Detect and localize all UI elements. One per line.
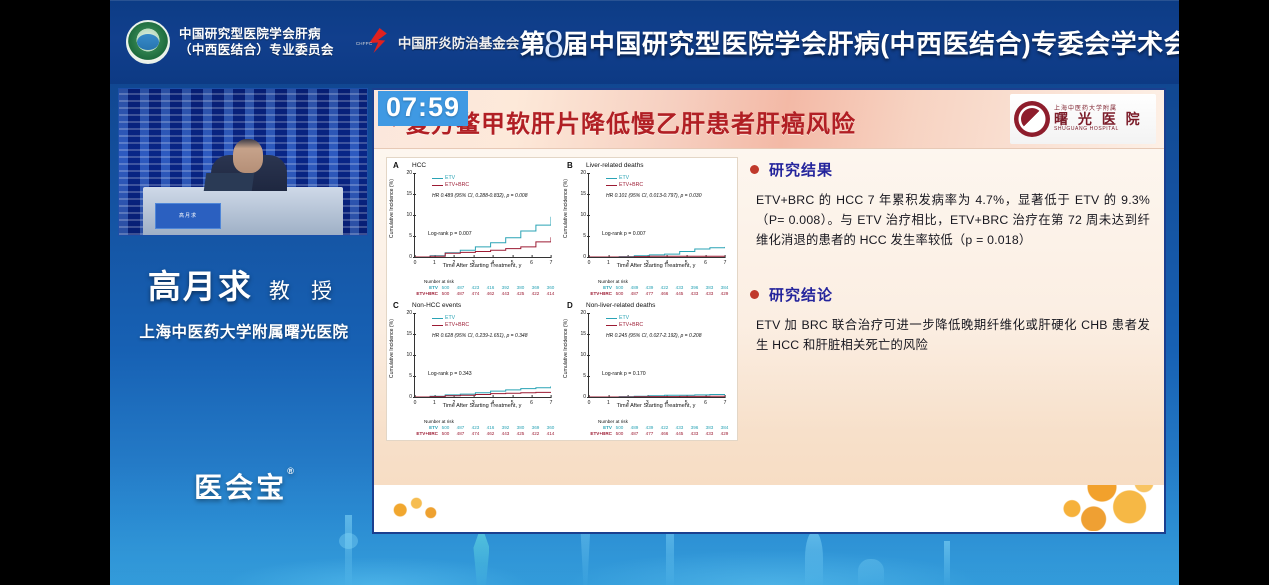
y-tick-label: 10 (401, 352, 412, 358)
risk-value: 422 (528, 431, 543, 437)
y-tick-label: 15 (401, 191, 412, 197)
y-tick-label: 10 (401, 212, 412, 218)
legend-line-icon (606, 318, 617, 319)
legend-line-icon (606, 178, 617, 179)
legend-item: ETV (606, 315, 643, 322)
conclusion-heading: 研究结论 (769, 284, 833, 305)
y-tick-label: 20 (575, 170, 586, 176)
risk-value: 466 (657, 291, 672, 297)
hazard-ratio-text: HR 0.628 (95% CI, 0.239-1.651), p = 0.34… (432, 333, 527, 339)
y-tick-label: 20 (575, 310, 586, 316)
y-axis-label: Cumulative Incidence (%) (563, 319, 569, 378)
x-tick-label: 7 (724, 400, 727, 406)
legend-item: ETV+BRC (606, 182, 643, 189)
legend-line-icon (432, 178, 443, 179)
risk-value: 414 (543, 291, 558, 297)
risk-row: ETV+BRC500487474462443425422414 (410, 291, 560, 297)
x-axis-label: Time After Starting Treatment, y (588, 403, 724, 409)
chart-panel-d: DNon-liver-related deathsCumulative Inci… (562, 299, 734, 439)
risk-value: 443 (498, 431, 513, 437)
speaker-head (233, 139, 263, 173)
hospital-seal-icon (1014, 101, 1050, 137)
risk-value: 433 (702, 291, 717, 297)
speaker-panel: 高月求 高月求教 授 上海中医药大学附属曙光医院 医会宝® (118, 88, 370, 528)
conclusion-heading-row: 研究结论 (750, 284, 1150, 305)
foundation-logo-block: 中国肝炎防治基金会 (356, 27, 520, 57)
curve-etv (415, 386, 551, 397)
legend-label: ETV+BRC (619, 182, 643, 189)
risk-value: 487 (627, 291, 642, 297)
logrank-text: Log-rank p = 0.343 (428, 371, 472, 377)
logrank-text: Log-rank p = 0.170 (602, 371, 646, 377)
panel-letter: D (567, 301, 573, 310)
x-tick-label: 7 (550, 260, 553, 266)
risk-value: 500 (438, 291, 453, 297)
letterbox-right (1179, 0, 1269, 585)
slide-title: 复方鳖甲软肝片降低慢乙肝患者肝癌风险 (406, 104, 856, 139)
y-tick-label: 5 (575, 233, 586, 239)
speaker-title: 教 授 (269, 279, 340, 303)
y-tick-label: 5 (401, 373, 412, 379)
risk-row: ETV+BRC500487474462443425422414 (410, 431, 560, 437)
slide-body: AHCCCumulative Incidence (%)051015200123… (374, 149, 1164, 531)
legend-label: ETV (619, 315, 629, 322)
risk-value: 466 (657, 431, 672, 437)
risk-value: 500 (438, 431, 453, 437)
logrank-text: Log-rank p = 0.007 (602, 231, 646, 237)
risk-row-label: ETV+BRC (410, 431, 438, 437)
panel-letter: A (393, 161, 399, 170)
risk-value: 462 (483, 431, 498, 437)
flower-decoration-icon (1036, 485, 1156, 531)
foundation-name: 中国肝炎防治基金会 (398, 32, 520, 52)
risk-value: 477 (642, 431, 657, 437)
legend-line-icon (606, 185, 617, 186)
legend-label: ETV+BRC (445, 182, 469, 189)
society-emblem-icon (126, 20, 170, 64)
hospital-logo: 上海中医药大学附属 曙 光 医 院 SHUGUANG HOSPITAL (1010, 94, 1156, 144)
legend-item: ETV+BRC (432, 322, 469, 329)
slide-text-panel: 研究结果 ETV+BRC 的 HCC 7 年累积发病率为 4.7%，显著低于 E… (750, 155, 1150, 355)
conclusion-body: ETV 加 BRC 联合治疗可进一步降低晚期纤维化或肝硬化 CHB 患者发生 H… (756, 315, 1150, 355)
number-at-risk-table: Number at riskETV50048742341639238036936… (410, 279, 560, 297)
conference-header: 中国研究型医院学会肝病 （中西医结合）专业委员会 中国肝炎防治基金会 第8届中国… (110, 0, 1179, 84)
risk-value: 500 (612, 431, 627, 437)
x-tick-label: 7 (550, 400, 553, 406)
y-tick-label: 0 (575, 254, 586, 260)
panel-title: Non-liver-related deaths (586, 302, 655, 309)
x-axis-label: Time After Starting Treatment, y (414, 403, 550, 409)
letterbox-left (0, 0, 110, 585)
y-tick-label: 15 (575, 191, 586, 197)
chart-panel-a: AHCCCumulative Incidence (%)051015200123… (388, 159, 560, 299)
y-tick-label: 15 (575, 331, 586, 337)
speaker-name: 高月求教 授 (118, 260, 370, 308)
risk-value: 429 (717, 431, 732, 437)
kaplan-meier-chart-grid: AHCCCumulative Incidence (%)051015200123… (386, 157, 738, 441)
risk-value: 414 (543, 431, 558, 437)
y-tick-label: 0 (401, 394, 412, 400)
curve-etv-brc (589, 396, 725, 397)
legend-label: ETV+BRC (445, 322, 469, 329)
presentation-slide[interactable]: 07:59 复方鳖甲软肝片降低慢乙肝患者肝癌风险 上海中医药大学附属 曙 光 医… (372, 88, 1166, 534)
laptop (204, 173, 255, 191)
podium-nameplate: 高月求 (155, 203, 221, 229)
legend-item: ETV+BRC (432, 182, 469, 189)
risk-value: 474 (468, 431, 483, 437)
slide-header: 07:59 复方鳖甲软肝片降低慢乙肝患者肝癌风险 上海中医药大学附属 曙 光 医… (374, 90, 1164, 149)
y-tick-label: 10 (575, 352, 586, 358)
risk-row-label: ETV+BRC (584, 291, 612, 297)
legend-item: ETV (432, 315, 469, 322)
results-body: ETV+BRC 的 HCC 7 年累积发病率为 4.7%，显著低于 ETV 的 … (756, 190, 1150, 250)
risk-value: 445 (672, 291, 687, 297)
risk-value: 433 (687, 431, 702, 437)
legend-line-icon (606, 325, 617, 326)
platform-brand-logo: 医会宝® (118, 466, 370, 506)
chart-legend: ETVETV+BRC (432, 315, 469, 329)
risk-value: 429 (717, 291, 732, 297)
risk-row: ETV+BRC500487477466445433433429 (584, 431, 734, 437)
registered-mark-icon: ® (287, 466, 294, 476)
panel-title: Liver-related deaths (586, 162, 643, 169)
legend-label: ETV (445, 175, 455, 182)
risk-value: 425 (513, 291, 528, 297)
y-tick-label: 20 (401, 170, 412, 176)
risk-value: 487 (627, 431, 642, 437)
podium: 高月求 (143, 187, 343, 235)
live-stream-area: 中国研究型医院学会肝病 （中西医结合）专业委员会 中国肝炎防治基金会 第8届中国… (110, 0, 1179, 585)
risk-row-label: ETV+BRC (584, 431, 612, 437)
y-tick-label: 5 (401, 233, 412, 239)
risk-value: 445 (672, 431, 687, 437)
legend-line-icon (432, 325, 443, 326)
hazard-ratio-text: HR 0.245 (95% CI, 0.027-2.192), p = 0.20… (606, 333, 701, 339)
hazard-ratio-text: HR 0.101 (95% CI, 0.013-0.797), p = 0.03… (606, 193, 701, 199)
x-axis-label: Time After Starting Treatment, y (414, 263, 550, 269)
results-heading-row: 研究结果 (750, 159, 1150, 180)
legend-line-icon (432, 318, 443, 319)
legend-label: ETV (445, 315, 455, 322)
risk-value: 477 (642, 291, 657, 297)
panel-letter: C (393, 301, 399, 310)
chart-legend: ETVETV+BRC (606, 175, 643, 189)
results-heading: 研究结果 (769, 159, 833, 180)
risk-value: 500 (612, 291, 627, 297)
y-tick-label: 0 (401, 254, 412, 260)
risk-row: ETV+BRC500487477466445433433429 (584, 291, 734, 297)
risk-value: 474 (468, 291, 483, 297)
chart-legend: ETVETV+BRC (606, 315, 643, 329)
legend-item: ETV (606, 175, 643, 182)
y-tick-label: 0 (575, 394, 586, 400)
x-axis-label: Time After Starting Treatment, y (588, 263, 724, 269)
risk-value: 422 (528, 291, 543, 297)
stream-stage: 中国研究型医院学会肝病 （中西医结合）专业委员会 中国肝炎防治基金会 第8届中国… (0, 0, 1269, 585)
risk-value: 425 (513, 431, 528, 437)
legend-label: ETV+BRC (619, 322, 643, 329)
foundation-mark-icon (356, 27, 396, 57)
risk-value: 487 (453, 431, 468, 437)
y-axis-label: Cumulative Incidence (%) (389, 319, 395, 378)
legend-item: ETV (432, 175, 469, 182)
y-axis-label: Cumulative Incidence (%) (389, 179, 395, 238)
session-timer: 07:59 (378, 91, 468, 126)
conclusion-bullet-icon (750, 290, 759, 299)
legend-item: ETV+BRC (606, 322, 643, 329)
risk-row-label: ETV+BRC (410, 291, 438, 297)
logrank-text: Log-rank p = 0.007 (428, 231, 472, 237)
y-tick-label: 15 (401, 331, 412, 337)
speaker-affiliation: 上海中医药大学附属曙光医院 (118, 320, 370, 342)
organizer-logo-block: 中国研究型医院学会肝病 （中西医结合）专业委员会 (126, 20, 334, 64)
vine-decoration-icon (384, 493, 474, 527)
hospital-logo-line2: 曙 光 医 院 (1054, 112, 1143, 127)
panel-title: HCC (412, 162, 426, 169)
conference-title: 第8届中国研究型医院学会肝病(中西医结合)专委会学术会议 (519, 24, 1179, 61)
number-at-risk-table: Number at riskETV50048943942243339638338… (584, 279, 734, 297)
risk-value: 487 (453, 291, 468, 297)
chart-panel-c: CNon-HCC eventsCumulative Incidence (%)0… (388, 299, 560, 439)
number-at-risk-table: Number at riskETV50048943942243339638338… (584, 419, 734, 437)
risk-value: 462 (483, 291, 498, 297)
slide-footer-decoration (374, 485, 1164, 531)
y-tick-label: 20 (401, 310, 412, 316)
x-tick-label: 7 (724, 260, 727, 266)
y-axis-label: Cumulative Incidence (%) (563, 179, 569, 238)
risk-value: 443 (498, 291, 513, 297)
risk-value: 433 (687, 291, 702, 297)
number-at-risk-table: Number at riskETV50048742341639238036936… (410, 419, 560, 437)
curve-etv (589, 247, 725, 257)
y-tick-label: 5 (575, 373, 586, 379)
legend-label: ETV (619, 175, 629, 182)
panel-title: Non-HCC events (412, 302, 461, 309)
speaker-video-feed[interactable]: 高月求 (118, 88, 368, 236)
y-tick-label: 10 (575, 212, 586, 218)
results-bullet-icon (750, 165, 759, 174)
chart-panel-b: BLiver-related deathsCumulative Incidenc… (562, 159, 734, 299)
curve-etv-brc (589, 256, 725, 257)
hospital-logo-line3: SHUGUANG HOSPITAL (1054, 127, 1143, 132)
legend-line-icon (432, 185, 443, 186)
chart-legend: ETVETV+BRC (432, 175, 469, 189)
hazard-ratio-text: HR 0.489 (95% CI, 0.288-0.832), p = 0.00… (432, 193, 527, 199)
organizer-name: 中国研究型医院学会肝病 （中西医结合）专业委员会 (179, 26, 334, 58)
panel-letter: B (567, 161, 573, 170)
risk-value: 433 (702, 431, 717, 437)
